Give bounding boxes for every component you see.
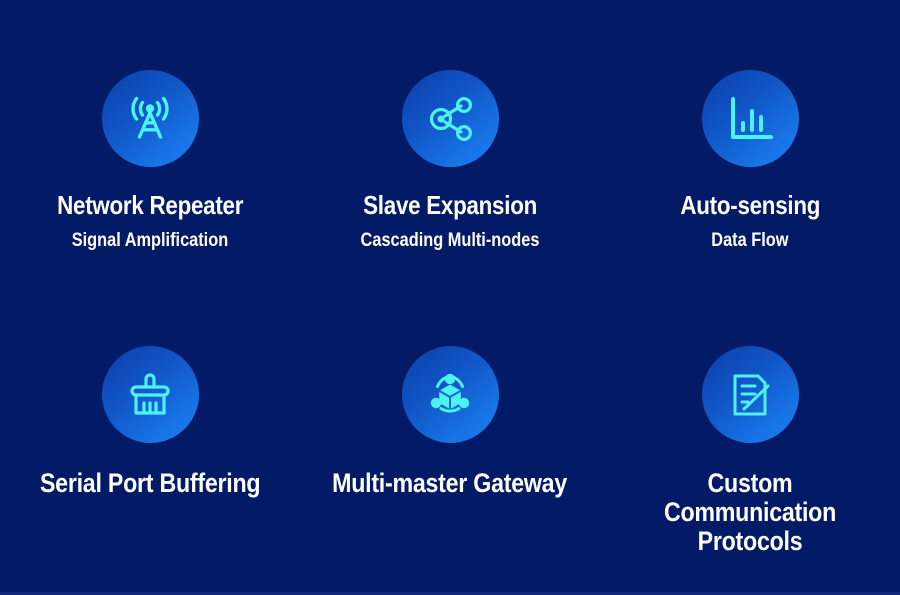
radio-tower-icon xyxy=(121,90,179,148)
feature-title: Network Repeater xyxy=(57,191,243,219)
icon-badge xyxy=(102,70,199,167)
feature-card-network-repeater[interactable]: Network Repeater Signal Amplification xyxy=(0,8,300,296)
feature-title: Slave Expansion xyxy=(363,191,537,219)
cleaning-brush-icon xyxy=(123,368,177,422)
feature-title: Auto-sensing xyxy=(680,191,820,219)
icon-badge xyxy=(702,70,799,167)
bar-chart-icon xyxy=(724,93,776,145)
icon-badge xyxy=(702,346,799,443)
icon-badge xyxy=(402,346,499,443)
feature-title: Custom Communication Protocols xyxy=(621,469,879,556)
feature-card-custom-communication-protocols[interactable]: Custom Communication Protocols xyxy=(600,296,900,584)
feature-subtitle: Cascading Multi-nodes xyxy=(361,231,540,252)
feature-card-serial-port-buffering[interactable]: Serial Port Buffering xyxy=(0,296,300,584)
cube-network-icon xyxy=(423,368,477,422)
feature-title: Serial Port Buffering xyxy=(40,469,260,498)
feature-subtitle: Signal Amplification xyxy=(72,231,228,252)
feature-card-multi-master-gateway[interactable]: Multi-master Gateway xyxy=(300,296,600,584)
feature-title: Multi-master Gateway xyxy=(333,469,568,498)
feature-card-auto-sensing[interactable]: Auto-sensing Data Flow xyxy=(600,8,900,296)
feature-grid: Network Repeater Signal Amplification Sl xyxy=(0,0,900,595)
icon-badge xyxy=(402,70,499,167)
feature-card-slave-expansion[interactable]: Slave Expansion Cascading Multi-nodes xyxy=(300,8,600,296)
share-nodes-icon xyxy=(423,92,477,146)
document-edit-icon xyxy=(724,369,776,421)
icon-badge xyxy=(102,346,199,443)
feature-grid-poster: Network Repeater Signal Amplification Sl xyxy=(0,0,900,595)
feature-subtitle: Data Flow xyxy=(711,231,788,252)
